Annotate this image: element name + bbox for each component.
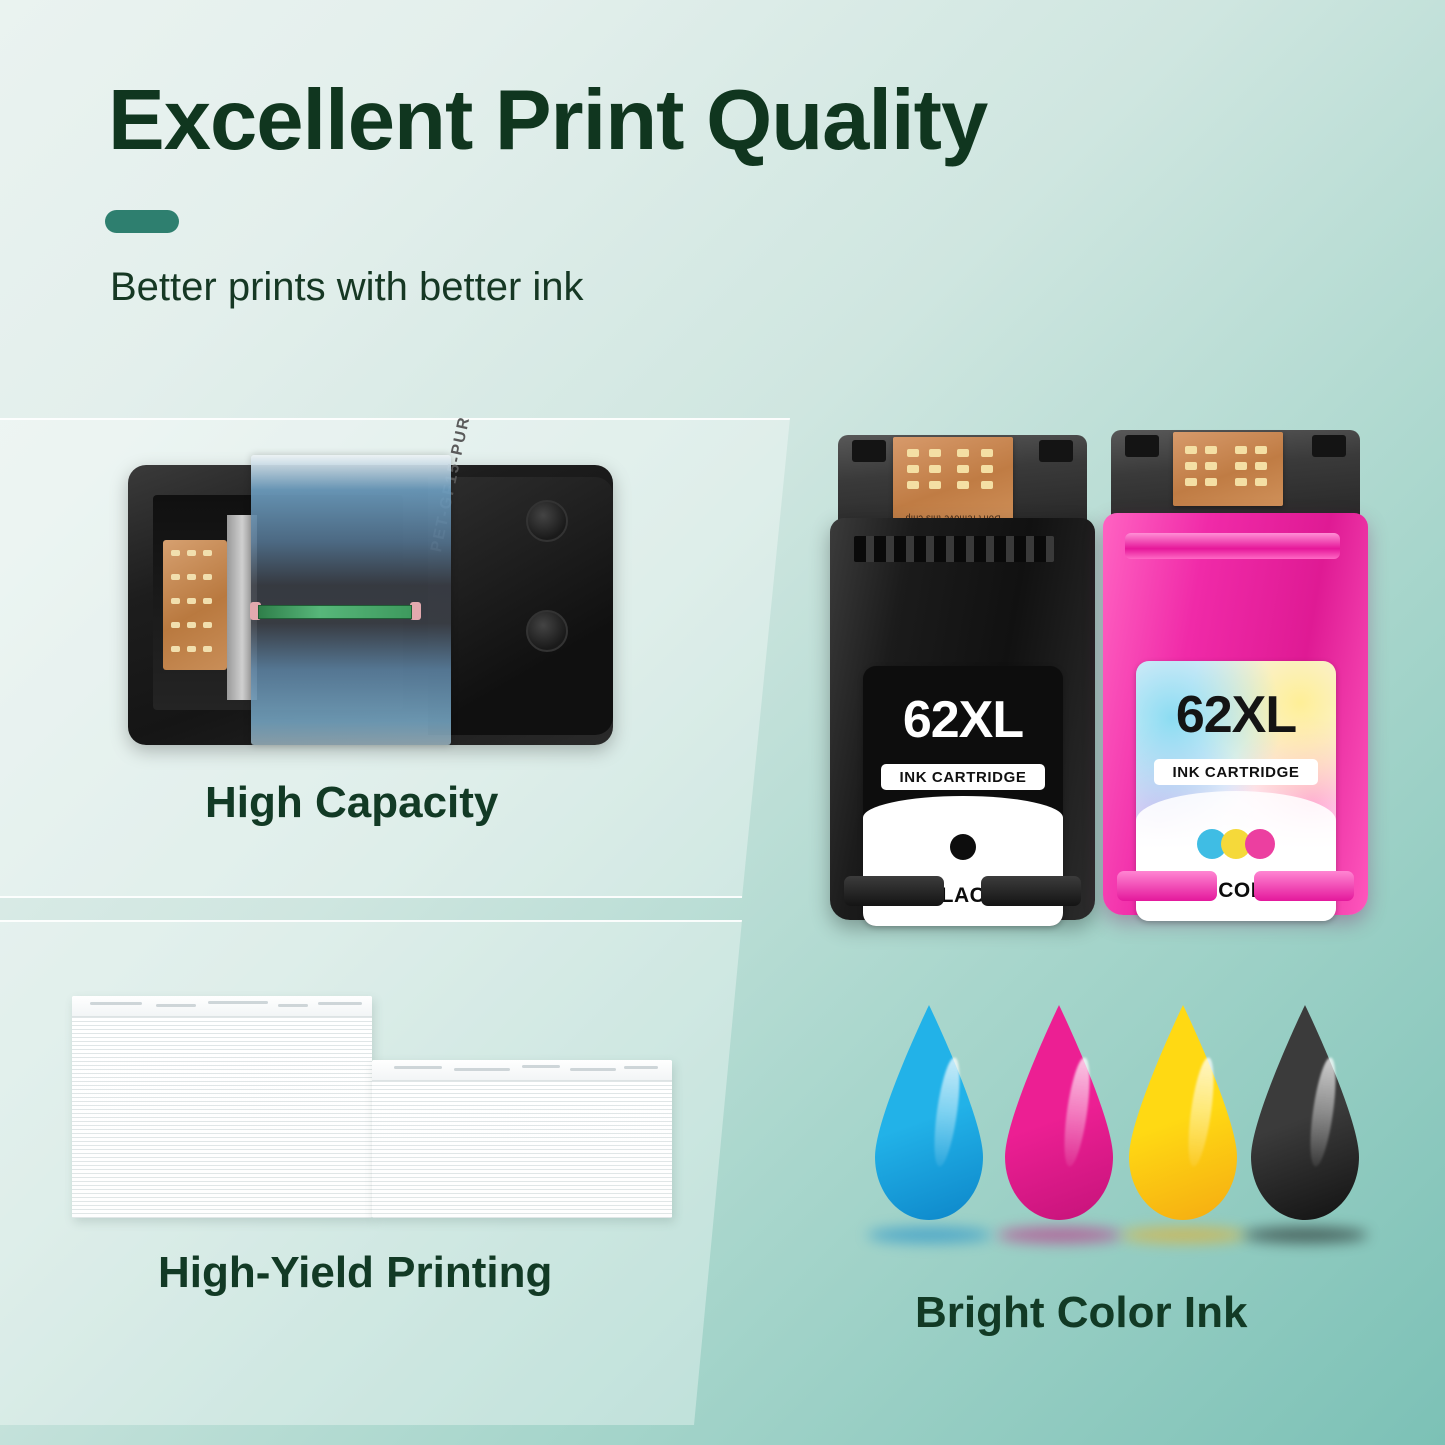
drop-shadow-yellow (1121, 1227, 1246, 1243)
cartridge-body-black: 62XL INK CARTRIDGE BLACK (830, 518, 1095, 920)
accent-dash (105, 210, 179, 233)
printhead-photo: PET-GF15-PUR (128, 455, 613, 755)
cartridge-notch-right (1039, 440, 1073, 462)
printhead-screw-top (526, 500, 568, 542)
cartridge-grip-tab-right (981, 876, 1081, 906)
caption-high-capacity: High Capacity (205, 778, 498, 828)
printhead-nozzle-strip (258, 605, 412, 619)
cyan-drop-icon (875, 1005, 983, 1220)
cartridge-color-ridge (1125, 533, 1340, 559)
page-title: Excellent Print Quality (108, 78, 987, 163)
printhead-right-block (428, 477, 613, 735)
yellow-drop-icon (1129, 1005, 1237, 1220)
paper-stack-sheet-lines (372, 1078, 672, 1218)
page-subtitle: Better prints with better ink (110, 265, 584, 310)
cartridge-black: Don't remove this chip 62XL INK CARTRIDG… (830, 430, 1095, 920)
black-drop-icon (1251, 1005, 1359, 1220)
infographic-canvas: Excellent Print Quality Better prints wi… (0, 0, 1445, 1445)
cartridge-notch-right (1312, 435, 1346, 457)
paper-stack-sheet-lines (72, 1014, 372, 1218)
cartridge-grip-tab-left (1117, 871, 1217, 901)
cartridge-model-number: 62XL (1136, 689, 1336, 741)
paper-stack-top-face (72, 996, 372, 1017)
cartridge-type-line: INK CARTRIDGE (1154, 759, 1318, 785)
drop-shadow-magenta (997, 1227, 1122, 1243)
drop-shadow-cyan (867, 1227, 992, 1243)
cartridge-type-line: INK CARTRIDGE (881, 764, 1045, 790)
cartridge-model-number: 62XL (863, 694, 1063, 746)
cartridge-color-swatch-black (950, 834, 976, 860)
cartridge-vent-row (854, 536, 1054, 562)
ink-drops-group (845, 1005, 1355, 1245)
caption-bright-color-ink: Bright Color Ink (915, 1288, 1247, 1338)
cartridge-dimples (1151, 470, 1336, 504)
cartridge-tricolor: 62XL INK CARTRIDGE TRI-COLOR (1103, 425, 1368, 920)
magenta-drop-icon (1005, 1005, 1113, 1220)
cartridge-grip-tab-right (1254, 871, 1354, 901)
paper-stack-top-face (372, 1060, 672, 1081)
cartridge-grip-tab-left (844, 876, 944, 906)
paper-stack-small (372, 1060, 672, 1218)
printhead-screw-bottom (526, 610, 568, 652)
printhead-contacts (163, 540, 227, 670)
caption-high-yield: High-Yield Printing (158, 1248, 552, 1298)
paper-stack-large (72, 996, 372, 1218)
printhead-protective-tape (251, 455, 451, 745)
cartridge-color-swatch-tricolor (1197, 829, 1275, 859)
cartridge-chip-black: Don't remove this chip (893, 437, 1013, 525)
cartridge-notch-left (1125, 435, 1159, 457)
drop-shadow-black (1243, 1227, 1368, 1243)
cartridge-notch-left (852, 440, 886, 462)
cartridge-body-tricolor: 62XL INK CARTRIDGE TRI-COLOR (1103, 513, 1368, 915)
